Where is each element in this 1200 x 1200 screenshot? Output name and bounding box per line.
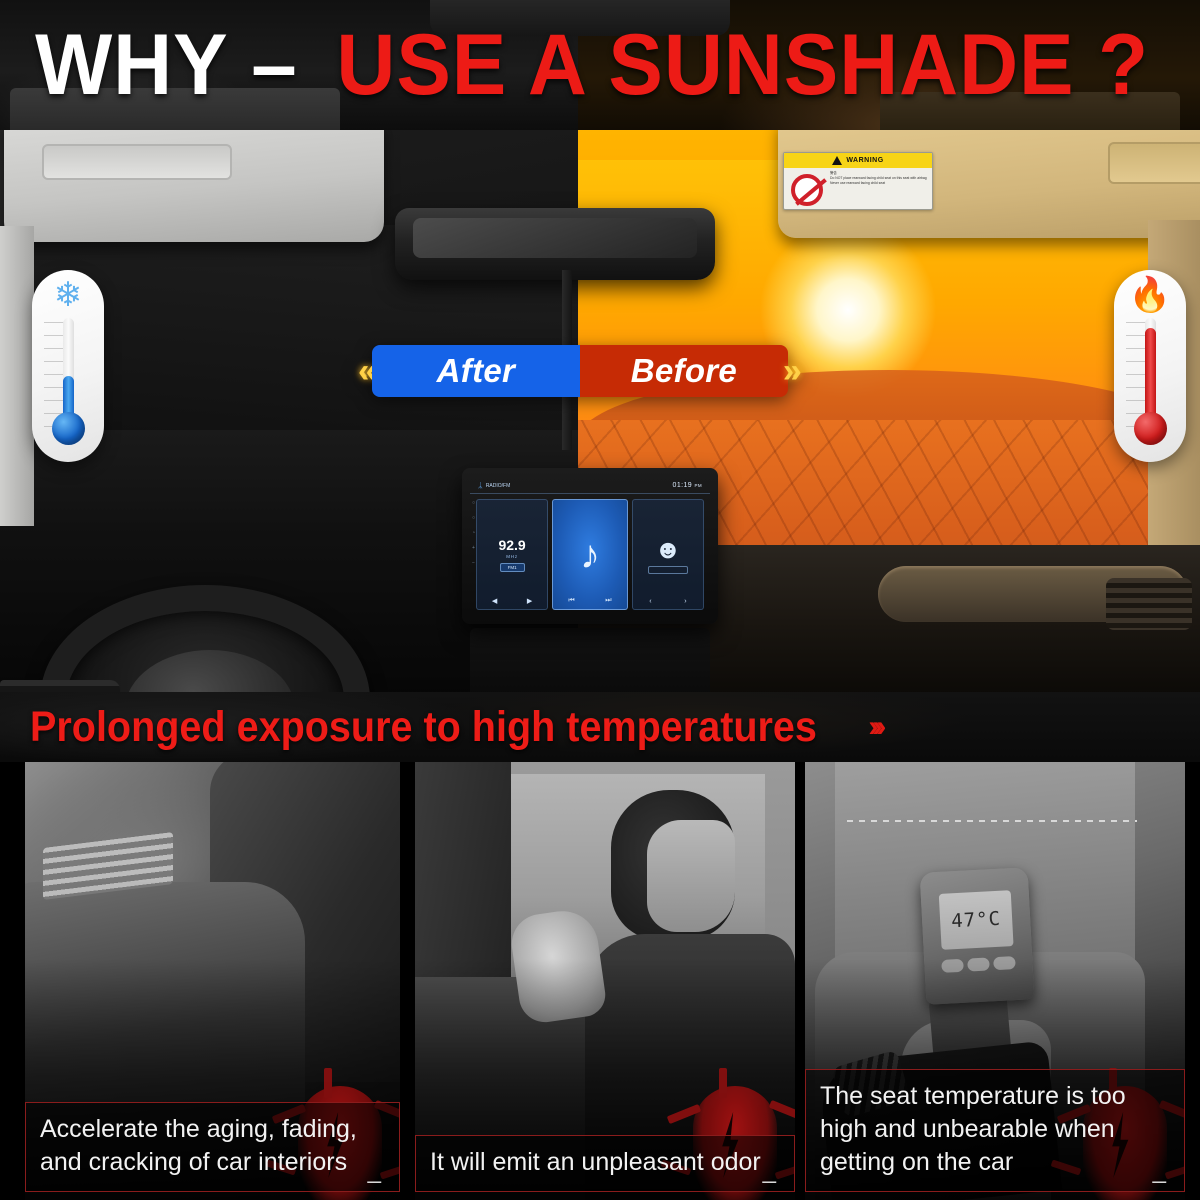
sunshade-infographic-poster: WHY – USE A SUNSHADE ? [0,0,1200,1200]
caption-3-underscore: _ [1153,1159,1166,1183]
infotainment-side-keys[interactable]: ○ ○ ◔ + − [472,500,475,566]
title-why: WHY [35,22,228,108]
clock-time: 01:19 [673,482,693,489]
band-chevron-3-icon: › [876,710,886,744]
photo-face-shape [647,820,735,932]
badge-after[interactable]: After [372,345,580,397]
warning-label-body: 警告 Do NOT place rearward facing child se… [784,168,932,210]
caption-3-text: The seat temperature is too high and unb… [820,1082,1126,1176]
caption-unpleasant-odor: It will emit an unpleasant odor _ [415,1135,795,1192]
infotainment-source-label: RADIO/FM [486,483,510,489]
flame-icon: 🔥 [1114,278,1186,312]
infotainment-source: ᛦ RADIO/FM [478,481,510,490]
radio-prev-icon[interactable]: ◀ [492,597,497,605]
side-key-2[interactable]: ◔ [472,530,475,536]
visor-slot-left [42,144,232,180]
tile-phone[interactable]: ☻ ‹ › [632,499,704,610]
rearview-mirror [395,208,715,280]
caption-1-underscore: _ [368,1159,381,1183]
infotainment-clock: 01:19 PM [673,482,702,489]
prohibition-circle [791,174,823,206]
caption-seat-temperature: The seat temperature is too high and unb… [805,1069,1185,1192]
infrared-thermometer-gun: 47°C [920,867,1035,1004]
visor-slot-right [1108,142,1200,184]
chevron-right-small-icon: › [792,359,800,383]
warning-label-text: 警告 Do NOT place rearward facing child se… [830,168,932,210]
music-note-icon: ♪ [580,535,600,575]
warning-label-title: WARNING [846,157,883,164]
title-use-a-sunshade: USE A SUNSHADE ? [336,22,1149,108]
tile-radio[interactable]: 92.9 MHz FM1 ◀ ▶ [476,499,548,610]
snowflake-icon: ❄ [32,278,104,312]
photo-seat-stitching [847,820,1137,822]
infotainment-tiles: 92.9 MHz FM1 ◀ ▶ ♪ ⏮ ⏭ [470,494,710,614]
airbag-warning-label: WARNING 警告 Do NOT place rearward facing … [783,152,933,210]
side-key-3[interactable]: + [472,545,475,551]
side-key-1[interactable]: ○ [472,515,475,521]
warning-triangle-icon [832,156,842,165]
person-icon: ☻ [654,536,681,562]
thermal-gun-display: 47°C [939,890,1014,950]
bluetooth-icon: ᛦ [478,481,483,490]
thermal-gun-buttons [940,956,1018,994]
consequence-panels: 47°C [0,762,1200,1200]
thermometer-hot-bulb [1134,412,1167,445]
radio-frequency: 92.9 [498,538,525,552]
prolonged-exposure-band: Prolonged exposure to high temperatures … [0,692,1200,762]
badge-right-chevrons: » › [788,354,795,388]
caption-2-underscore: _ [763,1159,776,1183]
after-before-badge: ‹ « After Before » › [365,345,795,397]
warning-line-3: Never use rearward facing child seat [830,181,929,186]
tile-media[interactable]: ♪ ⏮ ⏭ [552,499,628,610]
a-pillar-left [0,226,34,526]
caption-2-text: It will emit an unpleasant odor [430,1148,761,1176]
center-console-lower [470,628,710,692]
caption-interior-aging: Accelerate the aging, fading, and cracki… [25,1102,400,1192]
radio-controls[interactable]: ◀ ▶ [477,597,547,605]
band-chevrons: › › › [871,710,883,744]
side-key-4[interactable]: − [472,560,475,566]
warning-label-header: WARNING [784,153,932,168]
radio-preset-chip[interactable]: FM1 [500,563,525,572]
infotainment-unit[interactable]: ○ ○ ◔ + − ᛦ RADIO/FM 01:19 PM [462,468,718,624]
title-dash: – [236,22,313,108]
thermal-gun-button-1 [941,959,964,973]
clock-meridiem: PM [694,483,702,488]
sun-visor-left [4,130,384,242]
thermometer-cold-bulb [52,412,85,445]
radio-band: MHz [506,554,518,559]
thermometer-cold: ❄ [32,270,104,462]
caption-1-text: Accelerate the aging, fading, and cracki… [40,1115,357,1176]
badge-left-chevrons: ‹ « [365,354,372,388]
air-vent-right [1106,578,1192,630]
media-next-icon[interactable]: ⏭ [605,597,611,605]
air-vent-left [0,680,120,692]
chevron-left-small-icon: ‹ [360,359,368,383]
phone-next-icon[interactable]: › [684,598,686,605]
media-controls[interactable]: ⏮ ⏭ [553,597,627,605]
band-headline: Prolonged exposure to high temperatures [30,703,817,752]
thermal-gun-button-2 [967,957,990,971]
badge-before[interactable]: Before [580,345,788,397]
infotainment-status-bar: ᛦ RADIO/FM 01:19 PM [470,478,710,494]
side-key-0[interactable]: ○ [472,500,475,506]
infotainment-screen[interactable]: ○ ○ ◔ + − ᛦ RADIO/FM 01:19 PM [470,478,710,614]
thermal-gun-button-3 [993,956,1016,970]
page-title: WHY – USE A SUNSHADE ? [0,0,1200,130]
thermometer-hot: 🔥 [1114,270,1186,462]
radio-next-icon[interactable]: ▶ [527,597,532,605]
header-banner: WHY – USE A SUNSHADE ? [0,0,1200,130]
phone-prev-icon[interactable]: ‹ [649,598,651,605]
hero-before-after-split: WARNING 警告 Do NOT place rearward facing … [0,130,1200,692]
no-child-seat-icon [784,168,830,210]
phone-contact-bar [648,566,688,574]
media-prev-icon[interactable]: ⏮ [568,597,574,605]
phone-controls[interactable]: ‹ › [633,598,703,605]
